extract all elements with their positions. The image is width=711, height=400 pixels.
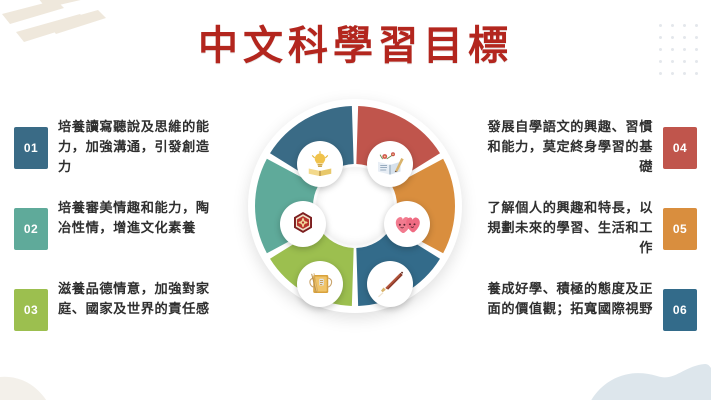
hearts-icon[interactable]: [384, 201, 430, 247]
objective-badge-04: 04: [663, 127, 697, 169]
objectives-left-column: 01 培養讀寫聽說及思維的能力，加強溝通，引發創造力 02 培養審美情趣和能力，…: [14, 118, 229, 361]
slide-canvas: 中文科學習目標 01 培養讀寫聽說及思維的能力，加強溝通，引發創造力 02 培養…: [0, 0, 711, 400]
objective-text-01: 培養讀寫聽說及思維的能力，加強溝通，引發創造力: [48, 118, 229, 178]
yellow-book-scroll-icon[interactable]: [297, 261, 343, 307]
objective-text-02: 培養審美情趣和能力，陶冶性情，增進文化素養: [48, 199, 229, 239]
book-lightbulb-icon[interactable]: [297, 141, 343, 187]
objectives-right-column: 04 發展自學語文的興趣、習慣和能力，莫定終身學習的基礎 05 了解個人的興趣和…: [472, 118, 697, 361]
objective-text-06: 養成好學、積極的態度及正面的價值觀；拓寬國際視野: [472, 280, 663, 320]
objective-item-02[interactable]: 02 培養審美情趣和能力，陶冶性情，增進文化素養: [14, 199, 229, 263]
objective-text-03: 滋養品德情意，加強對家庭、國家及世界的責任感: [48, 280, 229, 320]
objective-badge-06: 06: [663, 289, 697, 331]
objective-text-05: 了解個人的興趣和特長，以規劃未來的學習、生活和工作: [472, 199, 663, 259]
page-title: 中文科學習目標: [0, 24, 711, 68]
objective-badge-05: 05: [663, 208, 697, 250]
objective-badge-02: 02: [14, 208, 48, 250]
objective-item-05[interactable]: 05 了解個人的興趣和特長，以規劃未來的學習、生活和工作: [472, 199, 697, 263]
objective-item-04[interactable]: 04 發展自學語文的興趣、習慣和能力，莫定終身學習的基礎: [472, 118, 697, 182]
objective-badge-03: 03: [14, 289, 48, 331]
book-pen-flowers-icon[interactable]: [367, 141, 413, 187]
objective-badge-01: 01: [14, 127, 48, 169]
objective-item-03[interactable]: 03 滋養品德情意，加強對家庭、國家及世界的責任感: [14, 280, 229, 344]
objective-item-01[interactable]: 01 培養讀寫聽說及思維的能力，加強溝通，引發創造力: [14, 118, 229, 182]
red-emblem-icon[interactable]: [280, 201, 326, 247]
calligraphy-brush-icon[interactable]: [367, 261, 413, 307]
objective-text-04: 發展自學語文的興趣、習慣和能力，莫定終身學習的基礎: [472, 118, 663, 178]
objectives-wheel-chart: [255, 106, 455, 306]
objective-item-06[interactable]: 06 養成好學、積極的態度及正面的價值觀；拓寬國際視野: [472, 280, 697, 344]
